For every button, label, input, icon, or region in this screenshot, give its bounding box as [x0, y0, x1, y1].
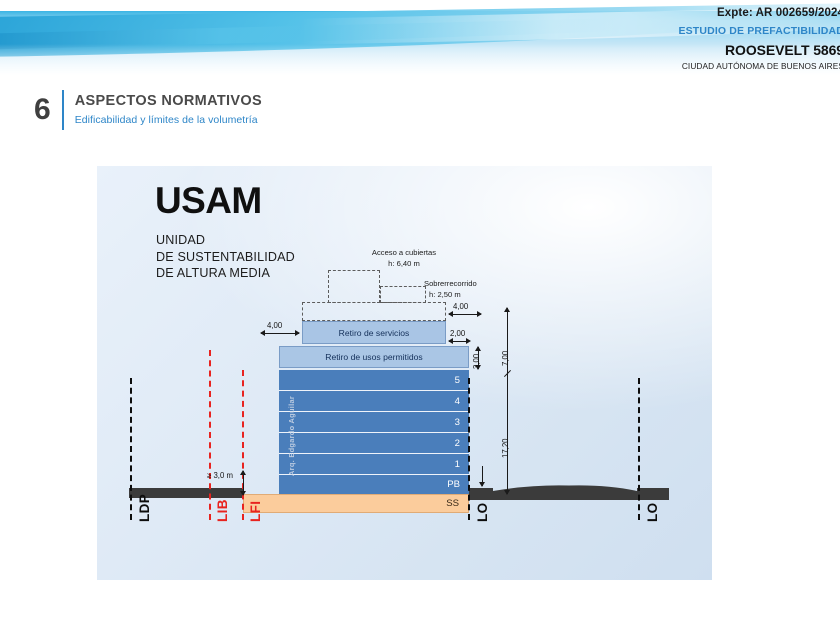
sobrerrecorrido-label: Sobrerrecorrido: [424, 279, 477, 289]
boundary-line-lfi: [242, 370, 244, 520]
acceso-cubiertas-height: h: 6,40 m: [341, 259, 467, 269]
floors-stack: 5 4 3 2 1 PB: [279, 370, 469, 494]
volumetry-diagram: USAM UNIDAD DE SUSTENTABILIDAD DE ALTURA…: [97, 166, 712, 580]
dim-value-retiro-frente: ≥ 3,0 m: [207, 471, 233, 480]
floor-label: 4: [455, 396, 460, 407]
dim-line-retiro-izq: [261, 333, 299, 334]
floor-label: PB: [447, 479, 460, 490]
usam-subtitle-line-3: DE ALTURA MEDIA: [156, 265, 295, 282]
boundary-label-lo-right: LO: [645, 502, 660, 522]
boundary-label-lib: LIB: [215, 499, 230, 522]
floor-row: 1: [279, 454, 469, 475]
boundary-label-lo-left: LO: [475, 502, 490, 522]
retiro-servicios-band: Retiro de servicios: [302, 321, 446, 344]
boundary-line-lo-right: [638, 378, 640, 520]
section-heading: 6 ASPECTOS NORMATIVOS Edificabilidad y l…: [34, 88, 262, 132]
banner-text-block: Expte: AR 002659/2024 ESTUDIO DE PREFACT…: [679, 6, 840, 72]
boundary-line-lo-left: [468, 378, 470, 520]
dim-value-retiro-der-sup: 4,00: [453, 302, 468, 311]
dim-arrow-left: [260, 330, 265, 336]
sobrerrecorrido-volume: [380, 286, 426, 303]
acceso-cubiertas-label: Acceso a cubiertas: [341, 248, 467, 258]
dim-arrow-right: [295, 330, 300, 336]
floor-row: 2: [279, 433, 469, 454]
project-address: ROOSEVELT 5869: [679, 42, 840, 59]
dim-value-altura-superior: 7,00: [501, 351, 510, 366]
dim-value-retiro-der-inf: 2,00: [450, 329, 465, 338]
basement-strip: SS: [243, 494, 469, 513]
usam-logo-subtitle: UNIDAD DE SUSTENTABILIDAD DE ALTURA MEDI…: [156, 232, 295, 282]
dim-arrow-down: [504, 490, 510, 495]
retiro-servicios-label: Retiro de servicios: [339, 328, 410, 338]
dim-arrow-left: [448, 311, 453, 317]
study-type-label: ESTUDIO DE PREFACTIBILIDAD: [679, 24, 840, 39]
document-header-banner: Expte: AR 002659/2024 ESTUDIO DE PREFACT…: [0, 0, 840, 78]
acceso-cubiertas-volume: [328, 270, 380, 303]
basement-label: SS: [446, 498, 459, 509]
dim-arrow-up: [475, 346, 481, 351]
retiro-usos-label: Retiro de usos permitidos: [325, 352, 422, 362]
section-title-group: ASPECTOS NORMATIVOS Edificabilidad y lím…: [75, 88, 262, 132]
expediente-number: Expte: AR 002659/2024: [679, 6, 840, 21]
dim-value-retiro-izq: 4,00: [267, 321, 282, 330]
section-title: ASPECTOS NORMATIVOS: [75, 92, 262, 111]
section-divider-rule: [62, 90, 64, 130]
floor-row: 5: [279, 370, 469, 391]
section-number: 6: [34, 88, 62, 132]
floor-row: PB: [279, 475, 469, 494]
boundary-line-ldp: [130, 378, 132, 520]
floor-label: 1: [455, 459, 460, 470]
sobrerrecorrido-height: h: 2,50 m: [429, 290, 461, 300]
usam-logo-title: USAM: [155, 181, 262, 221]
boundary-line-lib: [209, 350, 211, 520]
usam-subtitle-line-1: UNIDAD: [156, 232, 295, 249]
dim-value-altura-usos: 3,00: [472, 354, 481, 369]
section-subtitle: Edificabilidad y límites de la volumetrí…: [75, 113, 262, 128]
boundary-label-lfi: LFI: [248, 501, 263, 522]
dim-arrow-left: [448, 338, 453, 344]
dim-arrow-right: [466, 338, 471, 344]
floor-label: 3: [455, 417, 460, 428]
project-city: CIUDAD AUTÓNOMA DE BUENOS AIRES: [679, 60, 840, 72]
usam-subtitle-line-2: DE SUSTENTABILIDAD: [156, 249, 295, 266]
dim-line-altura-edificio: [507, 374, 508, 494]
dim-arrow-down: [240, 491, 246, 496]
dim-value-altura-edificio: 17,20: [501, 438, 510, 458]
floor-label: 2: [455, 438, 460, 449]
dim-arrow-up: [504, 307, 510, 312]
architect-watermark: Arq. Edgardo Aguilar: [287, 396, 296, 476]
ground-level-pointer-arrow: [479, 482, 485, 487]
floor-row: 4: [279, 391, 469, 412]
boundary-label-ldp: LDP: [137, 494, 152, 522]
dim-arrow-up: [240, 470, 246, 475]
floor-row: 3: [279, 412, 469, 433]
rooftop-services-outline: [302, 302, 446, 321]
dim-arrow-right: [477, 311, 482, 317]
retiro-usos-band: Retiro de usos permitidos: [279, 346, 469, 368]
floor-label: 5: [455, 375, 460, 386]
